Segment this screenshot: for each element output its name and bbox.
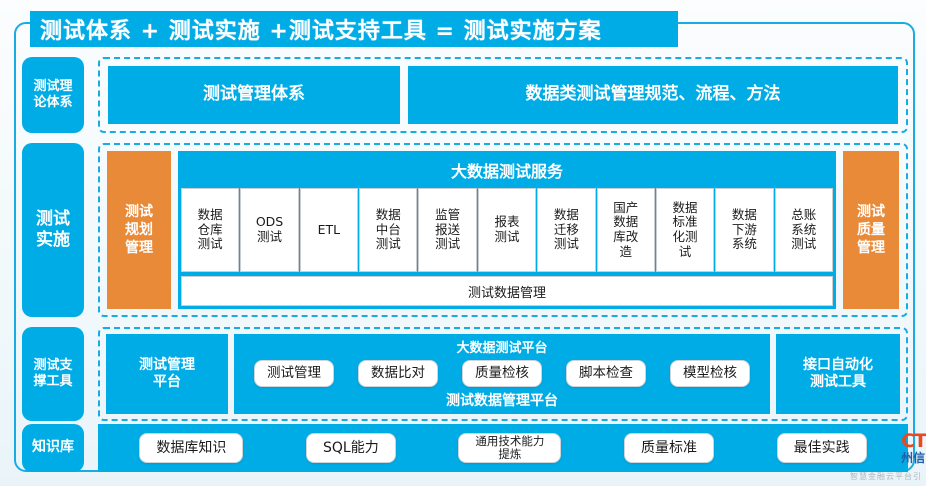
service-cell[interactable]: 数据标准化测试 xyxy=(656,188,714,272)
row-knowledge-base: 知识库 数据库知识 SQL能力 通用技术能力提炼 质量标准 最佳实践 xyxy=(22,424,908,472)
tools-dashed-container: 测试管理平台 大数据测试平台 测试管理 数据比对 质量检核 脚本检查 模型检核 … xyxy=(98,327,908,421)
service-cell[interactable]: 国产数据库改造 xyxy=(597,188,655,272)
knowledge-pill-group: 数据库知识 SQL能力 通用技术能力提炼 质量标准 最佳实践 xyxy=(98,424,908,472)
service-cell[interactable]: ETL xyxy=(300,188,358,272)
implementation-dashed-container: 测试规划管理 大数据测试服务 数据仓库测试 ODS测试 ETL 数据中台测试 监… xyxy=(98,143,908,317)
knowledge-pill[interactable]: 通用技术能力提炼 xyxy=(458,433,561,463)
knowledge-container: 数据库知识 SQL能力 通用技术能力提炼 质量标准 最佳实践 xyxy=(98,424,908,472)
service-cell[interactable]: 总账系统测试 xyxy=(775,188,833,272)
block-test-management-platform[interactable]: 测试管理平台 xyxy=(106,334,228,414)
logo-mark-text: CT xyxy=(901,432,926,451)
theory-dashed-container: 测试管理体系 数据类测试管理规范、流程、方法 xyxy=(98,57,908,133)
company-logo: CT 州信 xyxy=(901,432,926,464)
knowledge-pill[interactable]: 最佳实践 xyxy=(777,433,867,463)
big-data-test-service-panel: 大数据测试服务 数据仓库测试 ODS测试 ETL 数据中台测试 监管报送测试 报… xyxy=(178,151,836,309)
row-label-implementation: 测试实施 xyxy=(22,143,84,317)
service-cell-group: 数据仓库测试 ODS测试 ETL 数据中台测试 监管报送测试 报表测试 数据迁移… xyxy=(181,188,833,272)
service-cell[interactable]: 数据中台测试 xyxy=(359,188,417,272)
knowledge-pill[interactable]: 数据库知识 xyxy=(139,433,243,463)
service-cell[interactable]: 数据仓库测试 xyxy=(181,188,239,272)
theory-block-data-standards[interactable]: 数据类测试管理规范、流程、方法 xyxy=(408,66,898,124)
block-test-quality-management[interactable]: 测试质量管理 xyxy=(843,151,899,309)
service-cell[interactable]: 报表测试 xyxy=(478,188,536,272)
service-cell[interactable]: ODS测试 xyxy=(240,188,298,272)
block-test-planning-management[interactable]: 测试规划管理 xyxy=(107,151,171,309)
row-support-tools: 测试支撑工具 测试管理平台 大数据测试平台 测试管理 数据比对 质量检核 脚本检… xyxy=(22,327,908,421)
platform-panel-title: 大数据测试平台 xyxy=(234,334,770,356)
logo-subtitle: 州信 xyxy=(901,452,925,464)
knowledge-pill[interactable]: SQL能力 xyxy=(306,433,396,463)
platform-pill[interactable]: 模型检核 xyxy=(670,360,750,387)
logo-tagline: 智慧金融云平台引 xyxy=(850,471,922,482)
knowledge-pill[interactable]: 质量标准 xyxy=(624,433,714,463)
row-label-support-tools: 测试支撑工具 xyxy=(22,327,84,421)
header-banner: 测试体系 + 测试实施 +测试支持工具 = 测试实施方案 xyxy=(30,11,678,47)
big-data-test-platform-panel: 大数据测试平台 测试管理 数据比对 质量检核 脚本检查 模型检核 测试数据管理平… xyxy=(234,334,770,414)
row-theory: 测试理论体系 测试管理体系 数据类测试管理规范、流程、方法 xyxy=(22,57,908,133)
service-cell[interactable]: 监管报送测试 xyxy=(418,188,476,272)
row-implementation: 测试实施 测试规划管理 大数据测试服务 数据仓库测试 ODS测试 ETL 数据中… xyxy=(22,143,908,317)
service-cell[interactable]: 数据迁移测试 xyxy=(537,188,595,272)
service-panel-title: 大数据测试服务 xyxy=(181,153,833,188)
block-api-automation-tool[interactable]: 接口自动化测试工具 xyxy=(776,334,900,414)
platform-pill[interactable]: 脚本检查 xyxy=(566,360,646,387)
platform-pill[interactable]: 质量检核 xyxy=(462,360,542,387)
platform-panel-footer: 测试数据管理平台 xyxy=(234,390,770,414)
platform-pill-group: 测试管理 数据比对 质量检核 脚本检查 模型检核 xyxy=(234,356,770,390)
service-panel-footer[interactable]: 测试数据管理 xyxy=(181,276,833,306)
page-title: 测试体系 + 测试实施 +测试支持工具 = 测试实施方案 xyxy=(40,13,602,45)
platform-pill[interactable]: 测试管理 xyxy=(254,360,334,387)
theory-block-management-system[interactable]: 测试管理体系 xyxy=(108,66,400,124)
service-cell[interactable]: 数据下游系统 xyxy=(715,188,773,272)
row-label-theory: 测试理论体系 xyxy=(22,57,84,133)
platform-pill[interactable]: 数据比对 xyxy=(358,360,438,387)
row-label-knowledge-base: 知识库 xyxy=(22,424,84,472)
diagram-canvas: 测试体系 + 测试实施 +测试支持工具 = 测试实施方案 测试理论体系 测试管理… xyxy=(0,0,926,486)
